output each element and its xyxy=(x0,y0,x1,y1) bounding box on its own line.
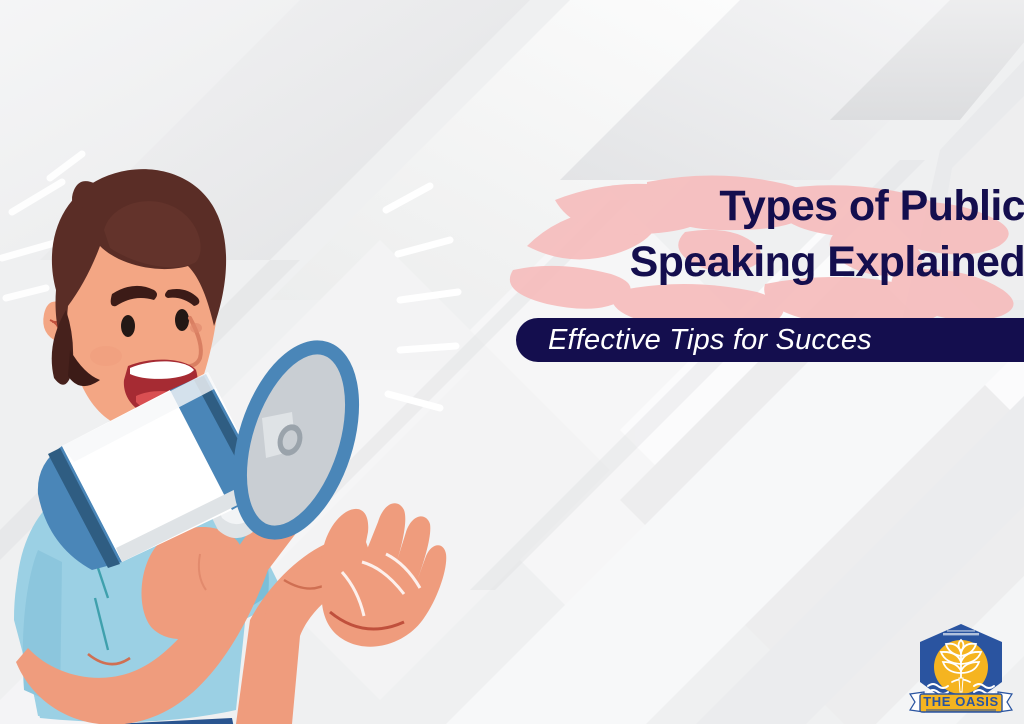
eye-right xyxy=(175,309,189,331)
eye-left xyxy=(121,315,135,337)
banner-root: Types of Public Speaking Explained Effec… xyxy=(0,0,1024,724)
tree-trunk xyxy=(959,678,963,692)
page-title-line-1: Types of Public xyxy=(497,178,1024,234)
title-block: Types of Public Speaking Explained xyxy=(497,178,1024,290)
the-oasis-logo: THE OASIS xyxy=(906,620,1016,720)
hero-illustration xyxy=(0,150,470,724)
man-with-megaphone-illustration xyxy=(0,150,470,724)
the-oasis-logo-mark: THE OASIS xyxy=(906,620,1016,720)
page-title-line-2: Speaking Explained xyxy=(497,234,1024,290)
sound-lines-right xyxy=(386,186,458,408)
logo-wordmark: THE OASIS xyxy=(923,694,998,709)
logo-tagline-microtext xyxy=(926,709,996,712)
page-title: Types of Public Speaking Explained xyxy=(497,178,1024,290)
subtitle-banner: Effective Tips for Succes xyxy=(516,318,1024,362)
subtitle-text: Effective Tips for Succes xyxy=(548,324,872,357)
open-palm-hand xyxy=(321,503,447,646)
